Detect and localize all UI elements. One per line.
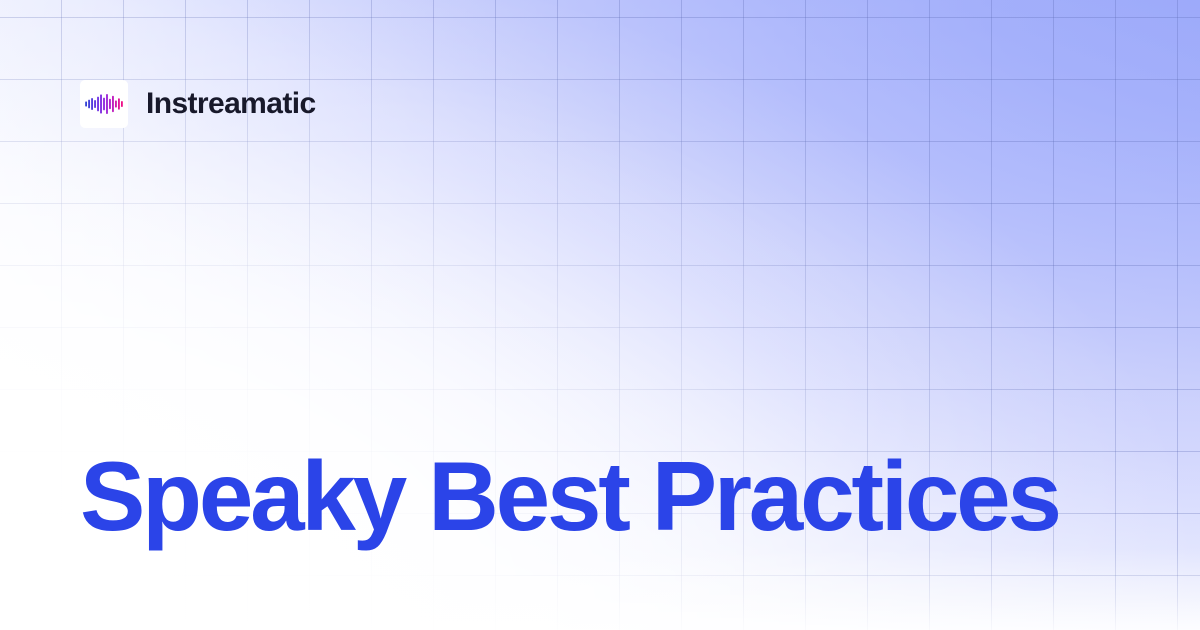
brand-name: Instreamatic (146, 89, 316, 119)
logo-badge (80, 80, 128, 128)
page-title: Speaky Best Practices (80, 445, 1120, 549)
audio-waveform-icon (84, 87, 124, 121)
share-card: Instreamatic Speaky Best Practices (0, 0, 1200, 630)
brand-lockup: Instreamatic (80, 80, 316, 128)
card-content: Instreamatic Speaky Best Practices (0, 0, 1200, 630)
